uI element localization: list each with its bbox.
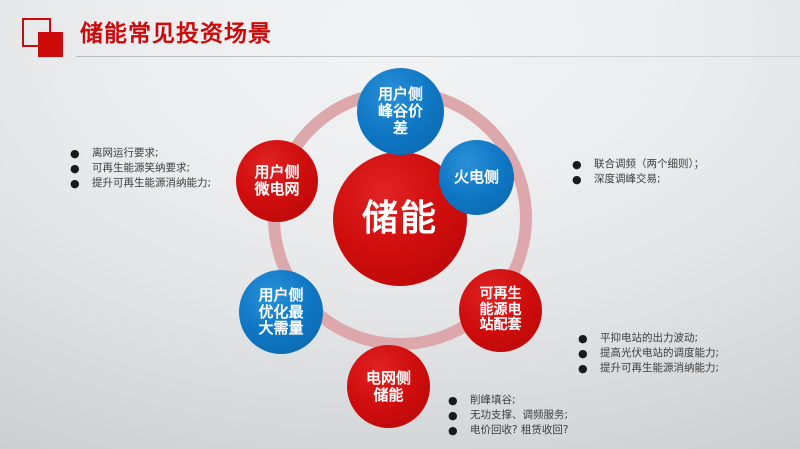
annotation-text: 深度调峰交易; [594, 172, 661, 187]
bullet-dot-icon [448, 408, 470, 423]
bullet-dot-icon [448, 393, 470, 408]
node-label-line-2: 优化最 [254, 304, 307, 321]
node-label-line-2: 能源电 [476, 303, 526, 319]
annotation-text: 提升可再生能源消纳能力; [600, 361, 719, 376]
annotation-item: 电价回收? 租赁收回? [448, 423, 568, 438]
double-square-logo-icon [22, 18, 70, 58]
diagram-node-grid-side-storage[interactable]: 电网侧储能 [347, 345, 430, 428]
diagram-node-renewable-plant-support[interactable]: 可再生能源电站配套 [459, 269, 542, 352]
node-label-line-1: 用户侧 [250, 164, 303, 181]
annotation-item: 离网运行要求; [70, 146, 211, 161]
node-center-label: 储能 [358, 199, 442, 239]
bullet-dot-icon [70, 161, 92, 176]
annotation-text: 离网运行要求; [92, 146, 159, 161]
annotation-item: 联合调频（两个细则）； [572, 157, 704, 172]
node-label-line-3: 站配套 [476, 318, 526, 334]
annotation-group-left: 离网运行要求; 可再生能源笑纳要求; 提升可再生能源消纳能力; [70, 146, 211, 191]
node-label-line-1: 用户侧 [374, 86, 427, 103]
bullet-dot-icon [70, 176, 92, 191]
annotation-text: 可再生能源笑纳要求; [92, 161, 190, 176]
node-label-line-1: 用户侧 [254, 287, 307, 304]
investment-scenario-diagram: 储能 用户侧峰谷价差 火电侧 可再生能源电站配套 电网侧储能 用户侧优化最大需量… [225, 60, 575, 440]
node-label: 可再生能源电站配套 [476, 287, 526, 334]
node-label-line-3: 差 [374, 120, 427, 137]
annotation-text: 联合调频（两个细则）； [594, 157, 704, 172]
node-label-line-1: 电网侧 [362, 370, 415, 387]
diagram-node-thermal-power-side[interactable]: 火电侧 [439, 140, 514, 215]
annotation-group-right-top: 联合调频（两个细则）； 深度调峰交易; [572, 157, 704, 187]
bullet-dot-icon [572, 157, 594, 172]
annotation-group-right-bottom: 平抑电站的出力波动; 提高光伏电站的调度能力; 提升可再生能源消纳能力; [578, 331, 719, 376]
annotation-item: 可再生能源笑纳要求; [70, 161, 211, 176]
page-title: 储能常见投资场景 [80, 19, 272, 49]
annotation-item: 削峰填谷; [448, 393, 568, 408]
annotation-item: 平抑电站的出力波动; [578, 331, 719, 346]
bullet-dot-icon [448, 423, 470, 438]
node-label: 电网侧储能 [362, 370, 415, 404]
node-label-line-2: 储能 [362, 387, 415, 404]
title-divider [76, 56, 800, 57]
slide-canvas: 储能常见投资场景 储能 用户侧峰谷价差 火电侧 可再生能源电站配套 电网侧储能 … [0, 0, 800, 449]
annotation-text: 无功支撑、调频服务; [470, 408, 568, 423]
node-label: 用户侧优化最大需量 [254, 287, 307, 337]
logo-solid-square [38, 32, 63, 57]
annotation-item: 提高光伏电站的调度能力; [578, 346, 719, 361]
bullet-dot-icon [578, 361, 600, 376]
node-label-line-3: 大需量 [254, 320, 307, 337]
bullet-dot-icon [70, 146, 92, 161]
annotation-text: 提高光伏电站的调度能力; [600, 346, 719, 361]
annotation-item: 深度调峰交易; [572, 172, 704, 187]
bullet-dot-icon [578, 331, 600, 346]
node-label-line-2: 微电网 [250, 181, 303, 198]
node-label-line-2: 峰谷价 [374, 103, 427, 120]
annotation-item: 提升可再生能源消纳能力; [70, 176, 211, 191]
node-label: 火电侧 [450, 169, 503, 186]
annotation-text: 电价回收? 租赁收回? [470, 423, 568, 438]
annotation-item: 无功支撑、调频服务; [448, 408, 568, 423]
diagram-node-user-microgrid[interactable]: 用户侧微电网 [236, 140, 318, 222]
bullet-dot-icon [578, 346, 600, 361]
annotation-text: 削峰填谷; [470, 393, 516, 408]
node-label-line-1: 可再生 [476, 287, 526, 303]
bullet-dot-icon [572, 172, 594, 187]
node-label: 用户侧峰谷价差 [374, 86, 427, 136]
annotation-item: 提升可再生能源消纳能力; [578, 361, 719, 376]
annotation-text: 平抑电站的出力波动; [600, 331, 698, 346]
node-label-line-1: 火电侧 [450, 169, 503, 186]
annotation-group-bottom: 削峰填谷; 无功支撑、调频服务; 电价回收? 租赁收回? [448, 393, 568, 438]
diagram-node-user-max-demand-optimization[interactable]: 用户侧优化最大需量 [239, 270, 323, 354]
annotation-text: 提升可再生能源消纳能力; [92, 176, 211, 191]
node-label: 用户侧微电网 [250, 164, 303, 198]
diagram-node-user-peak-valley-price[interactable]: 用户侧峰谷价差 [357, 68, 444, 155]
